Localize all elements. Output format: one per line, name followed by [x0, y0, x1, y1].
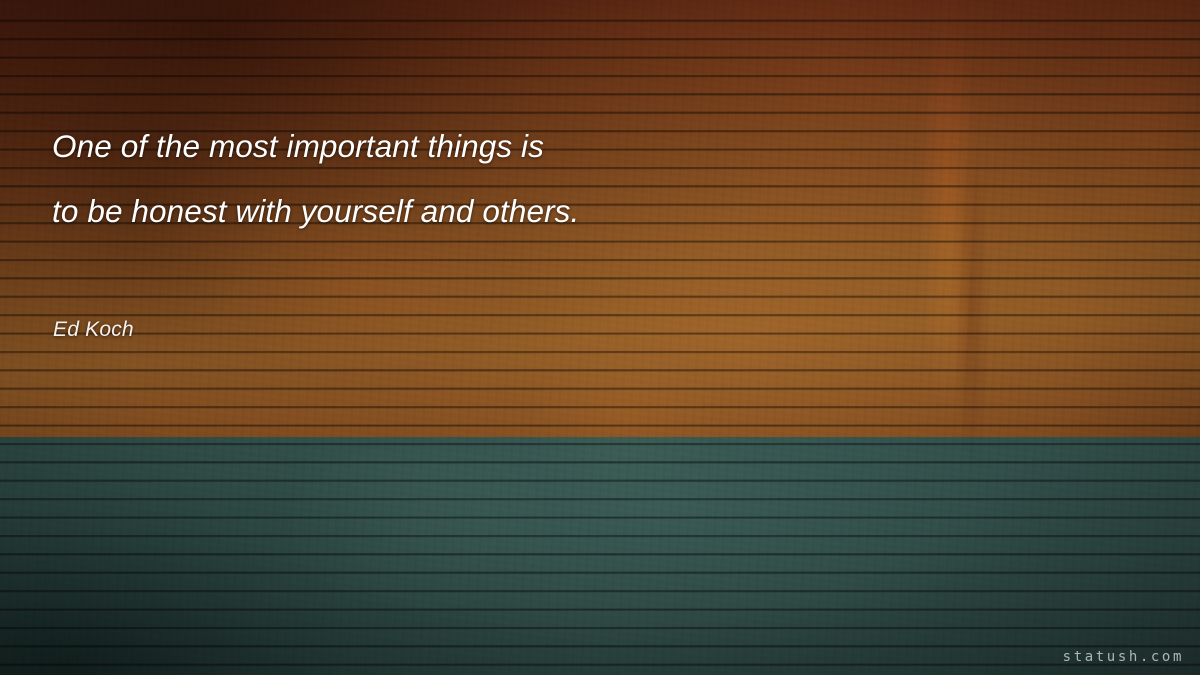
background-panel-bottom	[0, 437, 1200, 675]
site-watermark: statush.com	[1063, 649, 1184, 665]
quote-author: Ed Koch	[53, 318, 134, 342]
quote-card: One of the most important things is to b…	[0, 0, 1200, 675]
quote-line-2: to be honest with yourself and others.	[52, 179, 1112, 244]
quote-text-block: One of the most important things is to b…	[52, 114, 1112, 244]
quote-line-1: One of the most important things is	[52, 114, 1112, 179]
